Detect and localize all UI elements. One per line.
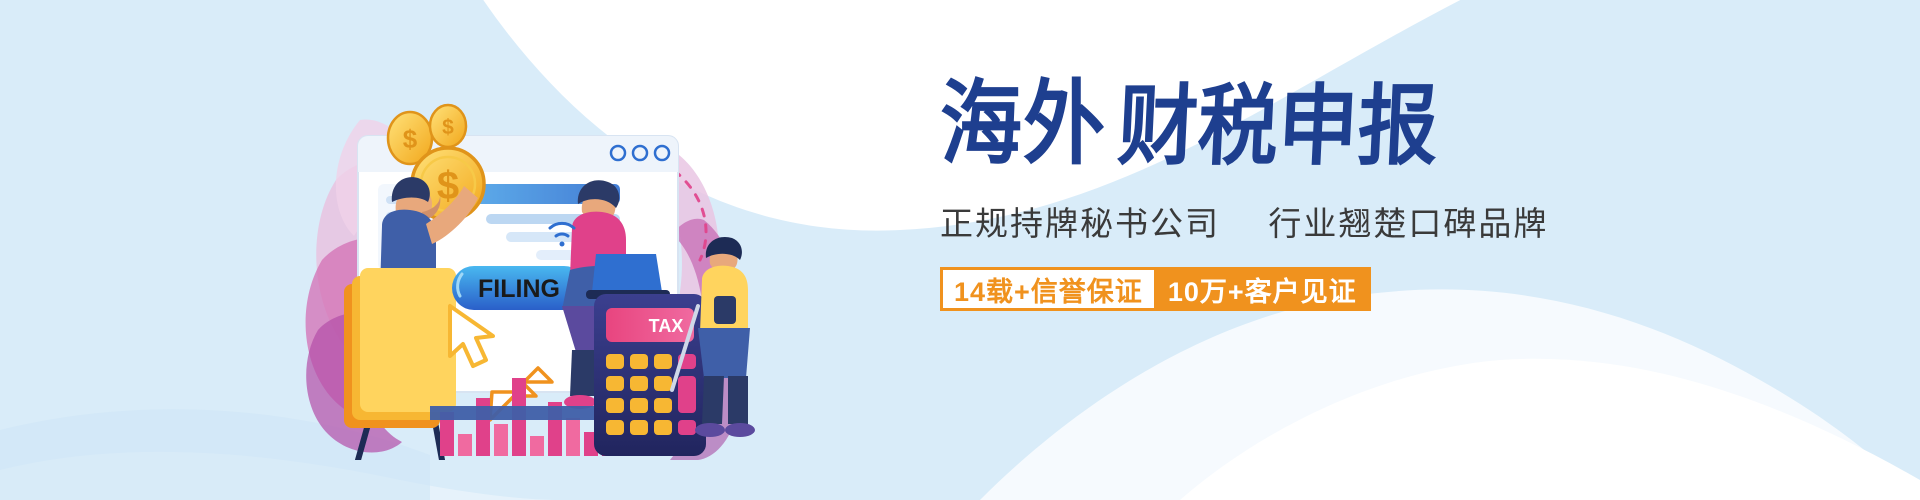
badge-group: 14载+信誉保证 10万+客户见证 (940, 267, 1740, 311)
badge-customers: 10万+客户见证 (1154, 267, 1371, 311)
hero-illustration: $ $ $ (300, 60, 770, 460)
filing-button-label: FILING (478, 275, 560, 303)
calculator-tax-label: TAX (649, 316, 684, 336)
headline-part-2: 财税申报 (1116, 83, 1440, 171)
coin-dollar-symbol-2: $ (442, 116, 454, 139)
banner-text-block: 海外 财税申报 正规持牌秘书公司 行业翘楚口碑品牌 14载+信誉保证 10万+客… (940, 75, 1740, 365)
subtitle-left: 正规持牌秘书公司 (940, 205, 1220, 242)
calculator: TAX (594, 294, 706, 456)
document-stack (344, 268, 456, 428)
coin-dollar-symbol: $ (403, 124, 418, 154)
badge-credibility: 14载+信誉保证 (940, 267, 1154, 311)
headline: 海外 财税申报 (940, 75, 1740, 171)
headline-part-1: 海外 (940, 79, 1106, 171)
promo-banner: $ $ $ (0, 0, 1920, 500)
subtitle: 正规持牌秘书公司 行业翘楚口碑品牌 (940, 197, 1740, 245)
subtitle-right: 行业翘楚口碑品牌 (1268, 205, 1548, 242)
illustration-svg: $ $ $ (300, 60, 770, 460)
